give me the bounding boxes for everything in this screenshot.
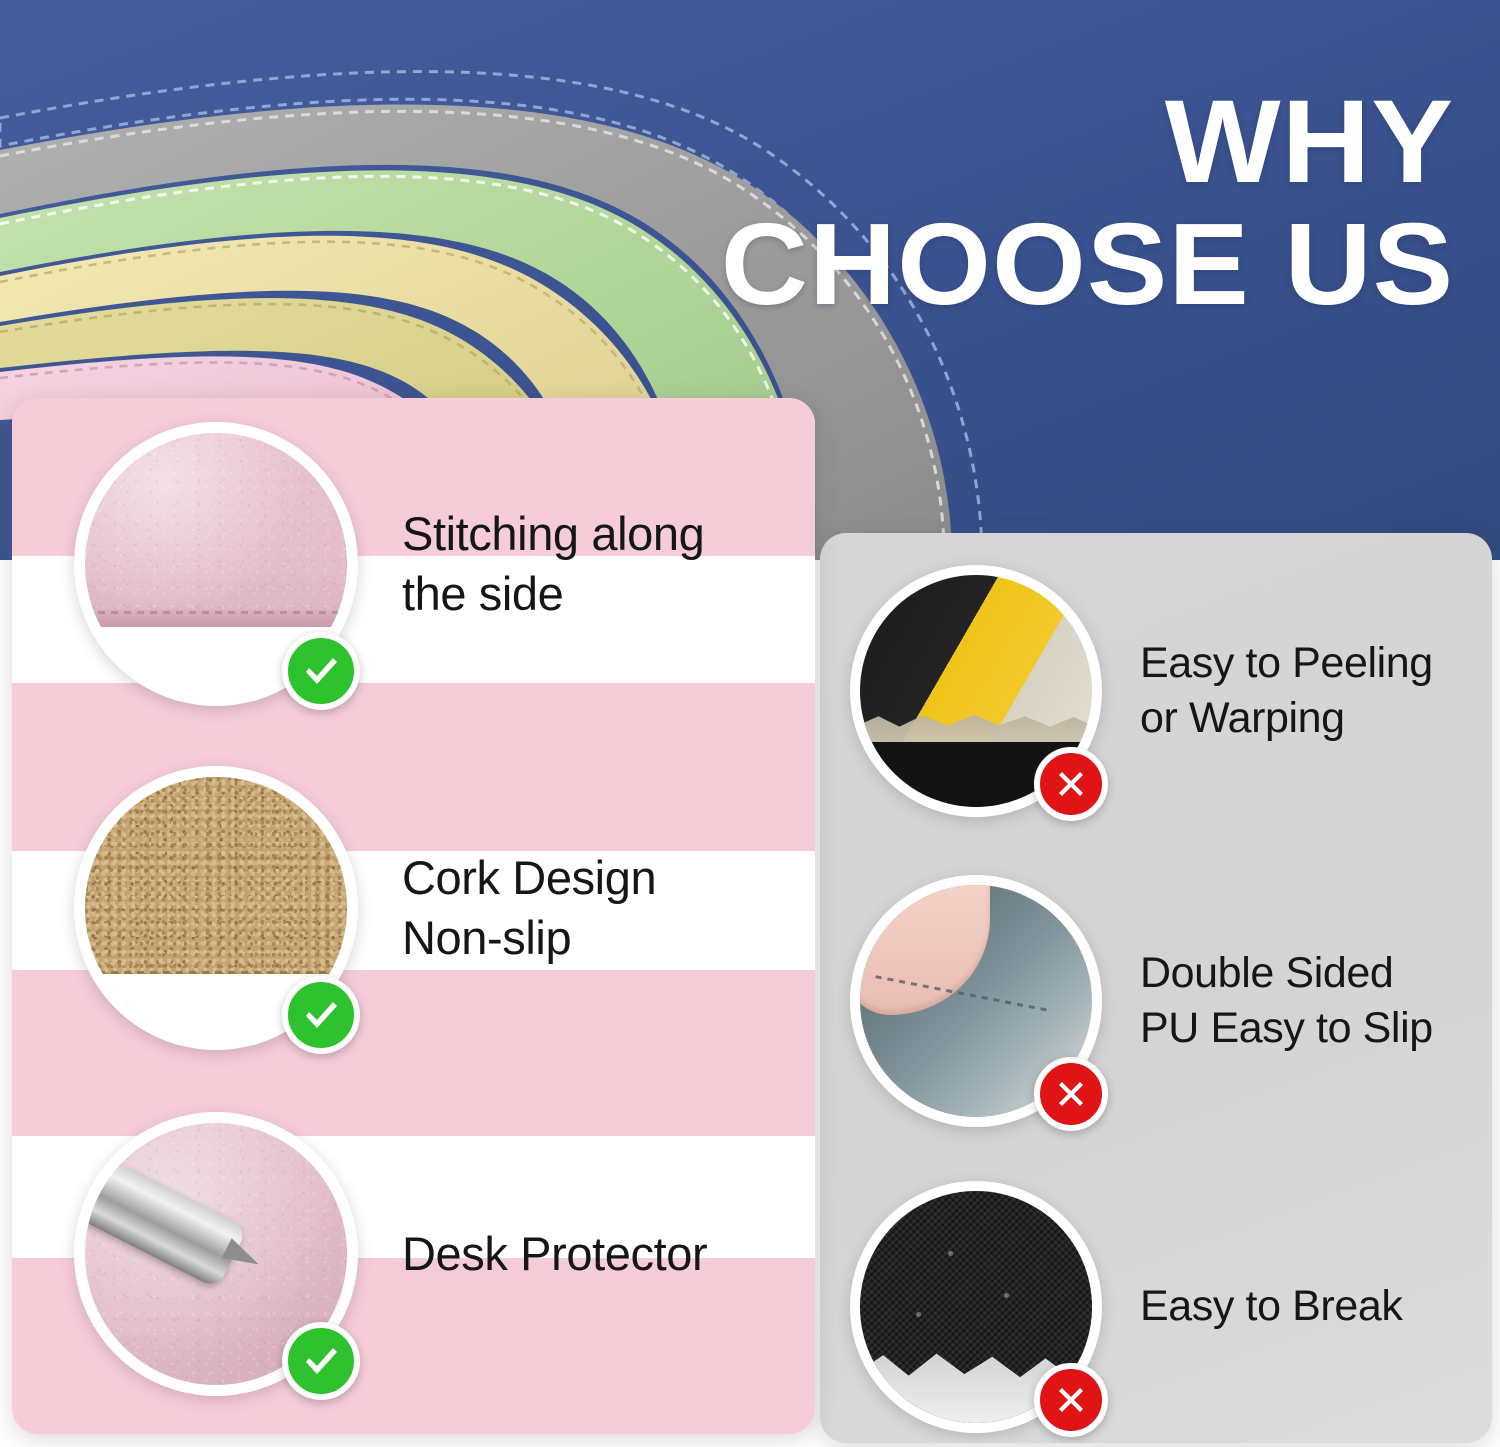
stitched-edge-photo: [74, 422, 358, 706]
list-item-label: Desk Protector: [402, 1224, 707, 1284]
peeling-surface-photo: [850, 565, 1102, 817]
page-title-line2: CHOOSE US: [721, 211, 1454, 318]
label-line-1: Double Sided: [1140, 946, 1433, 1001]
list-item-label: Cork Design Non-slip: [402, 848, 656, 968]
pen-on-mat-photo: [74, 1112, 358, 1396]
advantages-panel: Stitching along the side Cork Design Non…: [12, 398, 815, 1434]
cork-backing-photo: [74, 766, 358, 1050]
cross-icon: [1034, 747, 1108, 821]
cracked-black-fabric-photo: [850, 1181, 1102, 1433]
label-line-2: the side: [402, 564, 704, 624]
pink-leather-texture: [85, 433, 347, 627]
list-item-label: Double Sided PU Easy to Slip: [1140, 946, 1433, 1056]
check-icon: [282, 1322, 360, 1400]
list-item: Stitching along the side: [74, 414, 814, 714]
list-item: Cork Design Non-slip: [74, 758, 814, 1058]
label-line-1: Stitching along: [402, 504, 704, 564]
list-item: Easy to Break: [850, 1167, 1490, 1443]
label-line-2: Non-slip: [402, 908, 656, 968]
label-line-2: PU Easy to Slip: [1140, 1001, 1433, 1056]
page-title: WHY CHOOSE US: [749, 88, 1454, 317]
cross-icon: [1034, 1363, 1108, 1437]
list-item-label: Easy to Peeling or Warping: [1140, 636, 1433, 746]
list-item-label: Stitching along the side: [402, 504, 704, 624]
label-line-1: Easy to Break: [1140, 1279, 1402, 1334]
label-line-1: Easy to Peeling: [1140, 636, 1433, 691]
curled-double-sided-mat-photo: [850, 875, 1102, 1127]
check-icon: [282, 976, 360, 1054]
check-icon: [282, 632, 360, 710]
list-item-label: Easy to Break: [1140, 1279, 1402, 1334]
label-line-1: Desk Protector: [402, 1224, 707, 1284]
label-line-2: or Warping: [1140, 691, 1433, 746]
list-item: Easy to Peeling or Warping: [850, 551, 1490, 831]
list-item: Desk Protector: [74, 1104, 814, 1404]
page-title-line1: WHY: [721, 88, 1454, 197]
cork-texture: [85, 777, 347, 974]
list-item: Double Sided PU Easy to Slip: [850, 861, 1490, 1141]
disadvantages-panel: Easy to Peeling or Warping Double Sided …: [820, 533, 1492, 1443]
label-line-1: Cork Design: [402, 848, 656, 908]
cross-icon: [1034, 1057, 1108, 1131]
